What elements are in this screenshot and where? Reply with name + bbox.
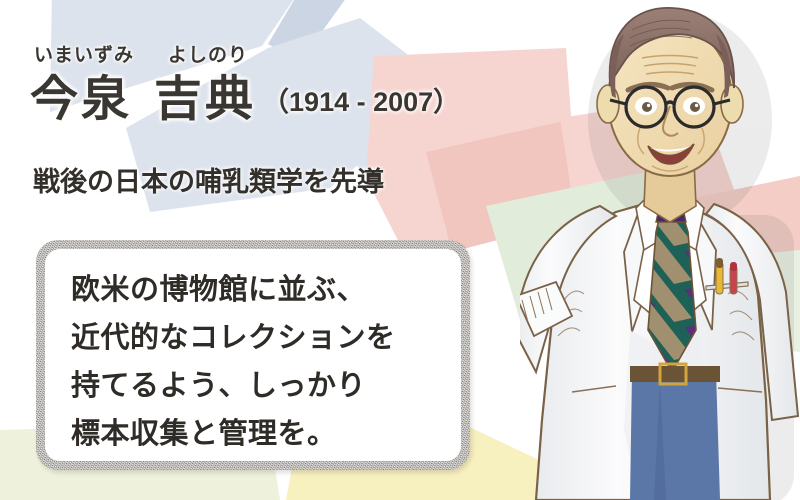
furigana-family: いまいずみ bbox=[34, 45, 134, 66]
life-years: （1914 - 2007） bbox=[262, 80, 460, 119]
quote-box: 欧米の博物館に並ぶ、 近代的なコレクションを 持てるよう、しっかり 標本収集と管… bbox=[36, 240, 470, 470]
profile-card: いまいずみよしのり 今泉吉典 （1914 - 2007） 戦後の日本の哺乳類学を… bbox=[0, 0, 800, 500]
subtitle: 戦後の日本の哺乳類学を先導 bbox=[33, 160, 384, 199]
name-line: 今泉吉典 （1914 - 2007） bbox=[30, 76, 460, 124]
name-given: 吉典 bbox=[154, 73, 256, 126]
person-name: 今泉吉典 bbox=[30, 76, 256, 124]
quote-box-inner: 欧米の博物館に並ぶ、 近代的なコレクションを 持てるよう、しっかり 標本収集と管… bbox=[45, 249, 461, 461]
trousers-and-belt bbox=[630, 364, 720, 500]
quote-line: 持てるよう、しっかり bbox=[71, 362, 461, 410]
name-family: 今泉 bbox=[30, 73, 132, 126]
furigana-given: よしのり bbox=[168, 45, 248, 66]
quote-line: 近代的なコレクションを bbox=[71, 314, 461, 362]
portrait-illustration bbox=[520, 0, 800, 500]
quote-line: 標本収集と管理を。 bbox=[71, 410, 461, 458]
furigana-reading: いまいずみよしのり bbox=[34, 40, 248, 67]
quote-line: 欧米の博物館に並ぶ、 bbox=[71, 266, 461, 314]
